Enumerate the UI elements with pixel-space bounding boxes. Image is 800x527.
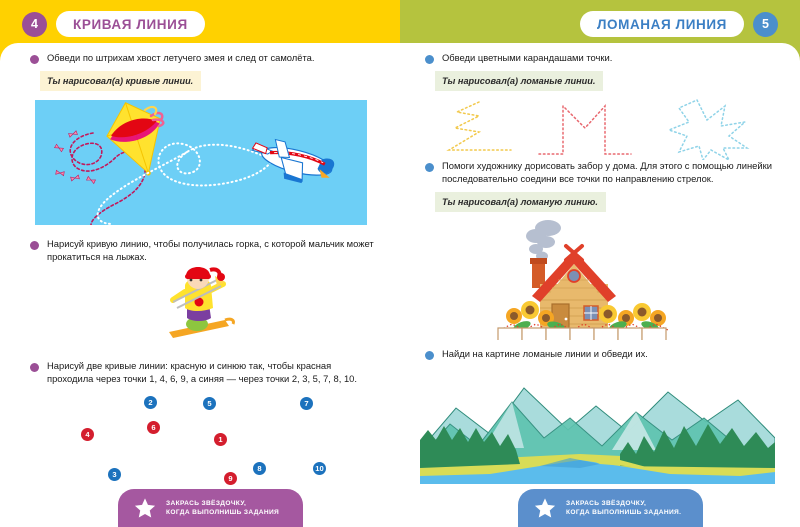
task-6: Найди на картине ломаные линии и обведи … — [425, 348, 775, 361]
left-page-number-badge: 4 — [22, 12, 47, 37]
dot-8[interactable]: 8 — [253, 462, 266, 475]
bullet-icon — [30, 55, 39, 64]
dot-3[interactable]: 3 — [108, 468, 121, 481]
right-page-header: ЛОМАНАЯ ЛИНИЯ 5 — [580, 11, 778, 37]
dot-1[interactable]: 1 — [214, 433, 227, 446]
mountain-landscape — [420, 372, 775, 489]
star-icon — [134, 497, 156, 519]
left-star-banner-text: ЗАКРАСЬ ЗВЁЗДОЧКУ, КОГДА ВЫПОЛНИШЬ ЗАДАН… — [166, 499, 279, 517]
kite-and-airplane-scene — [35, 100, 367, 230]
banner-line-2: КОГДА ВЫПОЛНИШЬ ЗАДАНИЯ — [166, 508, 279, 517]
task-4-answer: Ты нарисовал(а) ломаные линии. — [435, 71, 603, 91]
left-star-banner[interactable]: ЗАКРАСЬ ЗВЁЗДОЧКУ, КОГДА ВЫПОЛНИШЬ ЗАДАН… — [118, 489, 303, 527]
workbook-spread: 4 КРИВАЯ ЛИНИЯ Обведи по штрихам хвост л… — [0, 0, 800, 527]
left-page: 4 КРИВАЯ ЛИНИЯ Обведи по штрихам хвост л… — [0, 0, 400, 527]
task-1-text: Обведи по штрихам хвост летучего змея и … — [47, 52, 315, 65]
task-1: Обведи по штрихам хвост летучего змея и … — [30, 52, 380, 65]
task-3-text: Нарисуй две кривые линии: красную и синю… — [47, 360, 370, 385]
dotted-zigzag-shapes — [435, 98, 795, 165]
right-page-title: ЛОМАНАЯ ЛИНИЯ — [580, 11, 744, 37]
right-page: ЛОМАНАЯ ЛИНИЯ 5 Обведи цветными карандаш… — [400, 0, 800, 527]
task-1-answer: Ты нарисовал(а) кривые линии. — [40, 71, 201, 91]
banner-line-2: КОГДА ВЫПОЛНИШЬ ЗАДАНИЯ. — [566, 508, 681, 517]
task-2-text: Нарисуй кривую линию, чтобы получилась г… — [47, 238, 375, 263]
bullet-icon — [425, 351, 434, 360]
dot-6[interactable]: 6 — [147, 421, 160, 434]
dot-7[interactable]: 7 — [300, 397, 313, 410]
task-4: Обведи цветными карандашами точки. — [425, 52, 775, 65]
right-star-banner-text: ЗАКРАСЬ ЗВЁЗДОЧКУ, КОГДА ВЫПОЛНИШЬ ЗАДАН… — [566, 499, 681, 517]
task-5-answer: Ты нарисовал(а) ломаную линию. — [435, 192, 606, 212]
task-5-text: Помоги художнику дорисовать забор у дома… — [442, 160, 783, 185]
banner-line-1: ЗАКРАСЬ ЗВЁЗДОЧКУ, — [166, 499, 279, 508]
bullet-icon — [30, 241, 39, 250]
right-star-banner[interactable]: ЗАКРАСЬ ЗВЁЗДОЧКУ, КОГДА ВЫПОЛНИШЬ ЗАДАН… — [518, 489, 703, 527]
dot-9[interactable]: 9 — [224, 472, 237, 485]
bullet-icon — [30, 363, 39, 372]
dot-2[interactable]: 2 — [144, 396, 157, 409]
left-page-header: 4 КРИВАЯ ЛИНИЯ — [22, 11, 205, 37]
left-page-title: КРИВАЯ ЛИНИЯ — [56, 11, 205, 37]
dot-4[interactable]: 4 — [81, 428, 94, 441]
bullet-icon — [425, 55, 434, 64]
task-2: Нарисуй кривую линию, чтобы получилась г… — [30, 238, 375, 263]
dot-10[interactable]: 10 — [313, 462, 326, 475]
skier-boy — [155, 262, 245, 347]
house-with-fence — [490, 218, 705, 345]
banner-line-1: ЗАКРАСЬ ЗВЁЗДОЧКУ, — [566, 499, 681, 508]
task-5: Помоги художнику дорисовать забор у дома… — [425, 160, 783, 185]
dot-5[interactable]: 5 — [203, 397, 216, 410]
task-3: Нарисуй две кривые линии: красную и синю… — [30, 360, 370, 385]
star-icon — [534, 497, 556, 519]
task-4-text: Обведи цветными карандашами точки. — [442, 52, 612, 65]
task-6-text: Найди на картине ломаные линии и обведи … — [442, 348, 648, 361]
right-page-number-badge: 5 — [753, 12, 778, 37]
bullet-icon — [425, 163, 434, 172]
